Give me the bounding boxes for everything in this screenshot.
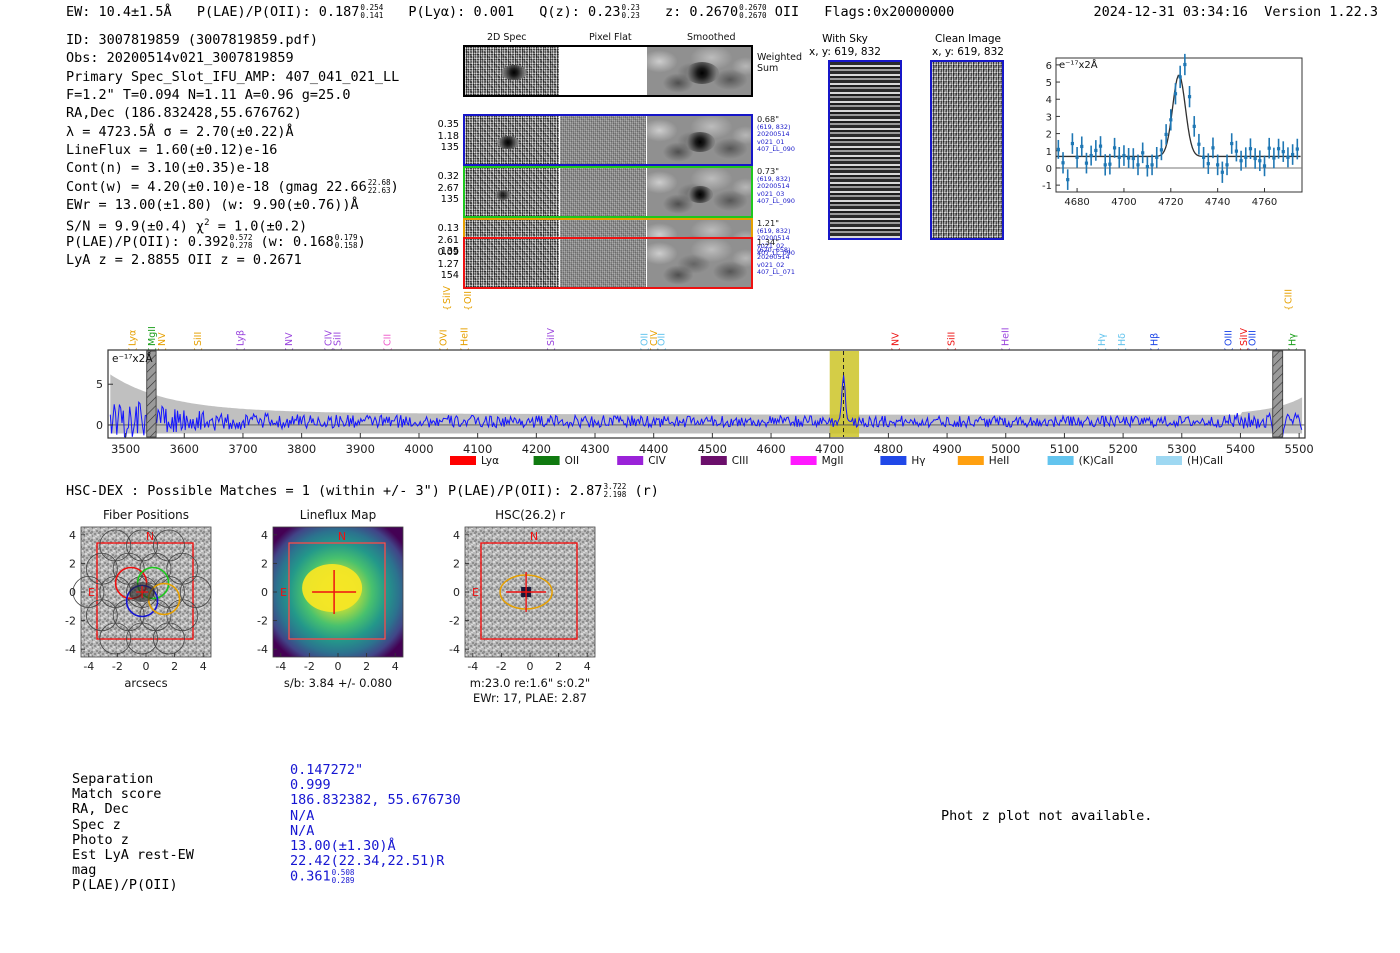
cutout-panels-row: Fiber Positions-4-2024420-2-4NEarcsecsLi… [45,505,645,735]
header-summary-line: EW: 10.4±1.5Å P(LAE)/P(OII): 0.1870.2540… [66,4,971,20]
svg-text:3600: 3600 [170,442,199,456]
flags-value: Flags:0x20000000 [824,4,954,20]
info-plae: P(LAE)/P(OII): 0.3920.5720.278 (w: 0.168… [66,233,399,251]
spec-row-meta-2: 0.73"(619, 832) 20200514v021_03407_LL_09… [757,168,817,206]
info-redshifts: LyA z = 2.8855 OII z = 0.2671 [66,251,399,269]
svg-text:CIII: CIII [732,455,749,467]
match-plae-range: 0.5080.289 [332,869,355,884]
spec-row-1-pixelflat [560,116,647,164]
svg-text:-2: -2 [112,660,123,673]
svg-text:m:23.0 re:1.6" s:0.2": m:23.0 re:1.6" s:0.2" [470,676,590,690]
svg-text:{: { [1284,305,1294,311]
info-cont-w: Cont(w) = 4.20(±0.10)e-18 (gmag 22.6622.… [66,178,399,196]
svg-text:4700: 4700 [815,442,844,456]
two-d-spectra-panel: 2D Spec Pixel Flat Smoothed WeightedSum … [425,32,785,262]
info-sn: S/N = 9.9(±0.4) χ2 = 1.0(±0.2) [66,214,399,232]
svg-text:4400: 4400 [639,442,668,456]
z-label: z: [665,4,681,20]
spec-row-2-2dspec [465,168,559,216]
svg-text:-2: -2 [449,615,460,628]
svg-text:(H)CaII: (H)CaII [1187,455,1223,467]
svg-text:3800: 3800 [287,442,316,456]
ew-label: EW: [66,4,90,20]
match-table-value: 0.3610.5080.289 [290,869,355,884]
svg-text:CIII: CIII [1283,289,1294,304]
svg-text:HeII: HeII [989,455,1010,467]
match-table-label: Spec z [72,818,290,833]
svg-text:e⁻¹⁷x2Å: e⁻¹⁷x2Å [1059,58,1098,71]
match-table-value: 22.42(22.34,22.51)R [290,854,444,869]
match-table-label: mag [72,863,290,878]
info-plae-range: 0.5720.278 [230,234,253,249]
match-table-row: Spec zN/A [72,818,461,833]
svg-text:4760: 4760 [1252,197,1277,208]
svg-text:4: 4 [261,529,268,542]
svg-text:OII: OII [463,291,474,304]
svg-text:4200: 4200 [522,442,551,456]
svg-text:e⁻¹⁷x2Å: e⁻¹⁷x2Å [112,352,153,365]
svg-text:HSC(26.2) r: HSC(26.2) r [495,508,565,522]
column-header-pixelflat: Pixel Flat [589,32,632,43]
match-table-value: 186.832382, 55.676730 [290,793,461,808]
svg-text:-2: -2 [304,660,315,673]
svg-text:5200: 5200 [1108,442,1137,456]
svg-text:-4: -4 [449,643,460,656]
qz-range: 0.230.23 [622,4,640,19]
svg-text:OII: OII [565,455,579,467]
column-header-2dspec: 2D Spec [487,32,527,43]
info-id: ID: 3007819859 (3007819859.pdf) [66,31,399,49]
spec-row-2 [463,166,753,218]
svg-text:E: E [88,586,95,599]
svg-text:Hγ: Hγ [1097,333,1108,346]
svg-text:SiII: SiII [947,332,958,346]
svg-text:Lineflux Map: Lineflux Map [300,508,376,522]
svg-text:-2: -2 [65,615,76,628]
svg-text:-4: -4 [275,660,286,673]
svg-text:0: 0 [69,586,76,599]
svg-text:HeII: HeII [1001,327,1012,346]
plya-value: 0.001 [473,4,514,20]
svg-text:5: 5 [96,378,103,391]
match-table-row: RA, Dec186.832382, 55.676730 [72,802,461,817]
svg-text:4800: 4800 [874,442,903,456]
clean-image-cutout [930,60,1004,240]
svg-text:3500: 3500 [111,442,140,456]
svg-text:4: 4 [392,660,399,673]
match-table-value: 13.00(±1.30)Å [290,839,396,854]
info-seeing: F=1.2" T=0.094 N=1.11 A=0.96 g=25.0 [66,86,399,104]
svg-text:SiIV: SiIV [442,286,453,304]
column-header-smoothed: Smoothed [687,32,736,43]
spec-row-1 [463,114,753,166]
svg-text:0: 0 [1046,164,1052,175]
svg-text:2: 2 [453,557,460,570]
svg-text:-4: -4 [83,660,94,673]
plae-value: 0.187 [319,4,360,20]
svg-text:OVI: OVI [438,329,449,346]
match-table-value: 0.147272" [290,763,363,778]
info-ewr: EWr = 13.00(±1.80) (w: 9.90(±0.76))Å [66,196,399,214]
match-table-label: Match score [72,787,290,802]
qz-label: Q(z): [539,4,580,20]
svg-text:4600: 4600 [756,442,785,456]
hsc-dex-summary: HSC-DEX : Possible Matches = 1 (within +… [66,483,659,499]
spec-row-stats-1: 0.351.18135 [425,119,459,154]
svg-text:Hγ: Hγ [1288,333,1299,346]
svg-text:-4: -4 [65,643,76,656]
svg-text:4720: 4720 [1158,197,1183,208]
svg-text:Hδ: Hδ [1117,333,1128,346]
svg-text:4: 4 [200,660,207,673]
plae-range: 0.2540.141 [360,4,383,19]
info-lineflux: LineFlux = 1.60(±0.12)e-16 [66,141,399,159]
weighted-sum-2dspec [465,47,559,95]
svg-text:4700: 4700 [1111,197,1136,208]
svg-text:EWr: 17, PLAE: 2.87: EWr: 17, PLAE: 2.87 [473,691,587,705]
svg-text:1: 1 [1046,147,1052,158]
match-table-value: N/A [290,809,314,824]
match-table-label: P(LAE)/P(OII) [72,878,290,893]
qz-value: 0.23 [588,4,621,20]
svg-text:4300: 4300 [580,442,609,456]
z-value: 0.2670 [689,4,738,20]
match-table-value: 0.999 [290,778,331,793]
clean-image-title: Clean Imagex, y: 619, 832 [918,33,1018,58]
weighted-sum-row [463,45,753,97]
info-cont-n: Cont(n) = 3.10(±0.35)e-18 [66,159,399,177]
photz-unavailable-message: Phot z plot not available. [941,808,1152,824]
svg-text:HeII: HeII [460,327,471,346]
match-table-row: Separation0.147272" [72,772,461,787]
svg-text:0: 0 [527,660,534,673]
svg-text:0: 0 [143,660,150,673]
svg-text:s/b: 3.84 +/- 0.080: s/b: 3.84 +/- 0.080 [284,676,392,690]
gmag-range: 22.6822.63 [368,179,391,194]
plya-label: P(Lyα): [408,4,465,20]
svg-text:-2: -2 [496,660,507,673]
svg-text:4100: 4100 [463,442,492,456]
version: Version 1.22.3 [1264,4,1378,20]
svg-text:CII: CII [383,334,394,346]
info-primary-spec: Primary Spec_Slot_IFU_AMP: 407_041_021_L… [66,68,399,86]
svg-text:4680: 4680 [1064,197,1089,208]
svg-text:5100: 5100 [1050,442,1079,456]
svg-text:5500: 5500 [1284,442,1313,456]
svg-text:{: { [464,305,474,311]
spec-row-stats-2: 0.322.67135 [425,171,459,206]
svg-text:4: 4 [69,529,76,542]
svg-text:Fiber Positions: Fiber Positions [103,508,189,522]
full-spectrum-plot: Lyα{MgII{NV{SiII{Lyβ{NV{CIV{SiII{CII{OVI… [60,272,1320,472]
svg-text:5: 5 [1046,78,1052,89]
svg-text:3: 3 [1046,112,1052,123]
match-properties-table: Separation0.147272"Match score0.999RA, D… [72,772,461,894]
svg-text:N: N [338,530,346,543]
match-table-row: Photo zN/A [72,833,461,848]
svg-text:0: 0 [96,419,103,432]
svg-text:3900: 3900 [346,442,375,456]
match-table-row: mag22.42(22.34,22.51)R [72,863,461,878]
svg-text:4900: 4900 [932,442,961,456]
svg-text:4: 4 [1046,95,1052,106]
line-zoom-plot: -1012345646804700472047404760e⁻¹⁷x2Å [1030,40,1310,230]
svg-text:arcsecs: arcsecs [124,676,167,690]
weighted-sum-label: WeightedSum [757,52,802,74]
svg-text:0: 0 [453,586,460,599]
svg-text:5400: 5400 [1226,442,1255,456]
svg-text:5300: 5300 [1167,442,1196,456]
svg-text:2: 2 [363,660,370,673]
svg-text:(K)CaII: (K)CaII [1079,455,1114,467]
svg-text:-1: -1 [1042,181,1052,192]
svg-text:OIII: OIII [1248,330,1259,346]
z-range: 0.26700.2670 [739,4,766,19]
svg-text:3700: 3700 [228,442,257,456]
spec-row-1-2dspec [465,116,559,164]
z-line-id: OII [775,4,799,20]
match-table-label: RA, Dec [72,802,290,817]
svg-text:4500: 4500 [698,442,727,456]
svg-text:NV: NV [157,332,168,346]
svg-text:NV: NV [284,332,295,346]
svg-text:Hγ: Hγ [911,455,925,467]
svg-text:OIII: OIII [1224,330,1235,346]
svg-text:5000: 5000 [991,442,1020,456]
hscdex-plae-range: 3.7222.198 [603,483,626,498]
svg-text:Lyβ: Lyβ [235,330,246,346]
info-lambda: λ = 4723.5Å σ = 2.70(±0.22)Å [66,123,399,141]
svg-text:2: 2 [1046,130,1052,141]
weighted-sum-pixelflat [560,47,647,95]
with-sky-title: With Skyx, y: 619, 832 [800,33,890,58]
svg-text:SiII: SiII [332,332,343,346]
match-table-label: Est LyA rest-EW [72,848,290,863]
svg-text:4: 4 [584,660,591,673]
header-version-line: 2024-12-31 03:34:16 Version 1.22.3 [1094,4,1379,20]
match-table-row: P(LAE)/P(OII)0.3610.5080.289 [72,878,461,893]
svg-text:NV: NV [890,332,901,346]
spec-row-1-smoothed [647,116,751,164]
svg-text:Lyα: Lyα [481,455,499,467]
detection-info-block: ID: 3007819859 (3007819859.pdf) Obs: 202… [66,31,399,269]
svg-text:2: 2 [171,660,178,673]
info-obs: Obs: 20200514v021_3007819859 [66,49,399,67]
svg-text:{: { [443,305,453,311]
svg-text:2: 2 [69,557,76,570]
svg-text:2: 2 [261,557,268,570]
match-table-label: Photo z [72,833,290,848]
svg-text:-2: -2 [257,615,268,628]
info-radec: RA,Dec (186.832428,55.676762) [66,104,399,122]
plae-label: P(LAE)/P(OII): [197,4,311,20]
svg-text:Hβ: Hβ [1150,333,1161,346]
svg-text:E: E [472,586,479,599]
svg-text:SiIV: SiIV [546,328,557,346]
svg-text:4: 4 [453,529,460,542]
svg-text:-4: -4 [257,643,268,656]
weighted-sum-smoothed [647,47,751,95]
spec-row-2-pixelflat [560,168,647,216]
svg-text:N: N [530,530,538,543]
match-table-value: N/A [290,824,314,839]
info-plae-w-range: 0.1790.158 [335,234,358,249]
svg-text:4000: 4000 [404,442,433,456]
svg-text:0: 0 [335,660,342,673]
svg-text:2: 2 [555,660,562,673]
svg-text:0: 0 [261,586,268,599]
svg-text:E: E [280,586,287,599]
spec-row-2-smoothed [647,168,751,216]
svg-text:SiII: SiII [193,332,204,346]
svg-text:CIV: CIV [648,455,666,467]
match-table-label: Separation [72,772,290,787]
ew-value: 10.4±1.5Å [99,4,172,20]
svg-text:MgII: MgII [822,455,844,467]
svg-text:-4: -4 [467,660,478,673]
timestamp: 2024-12-31 03:34:16 [1094,4,1248,20]
spec-row-meta-1: 0.68"(619, 832) 20200514v021_01407_LL_09… [757,116,817,154]
svg-text:4740: 4740 [1205,197,1230,208]
svg-text:Lyα: Lyα [127,330,138,346]
svg-text:6: 6 [1046,61,1052,72]
svg-text:OII: OII [657,333,668,346]
with-sky-cutout [828,60,902,240]
